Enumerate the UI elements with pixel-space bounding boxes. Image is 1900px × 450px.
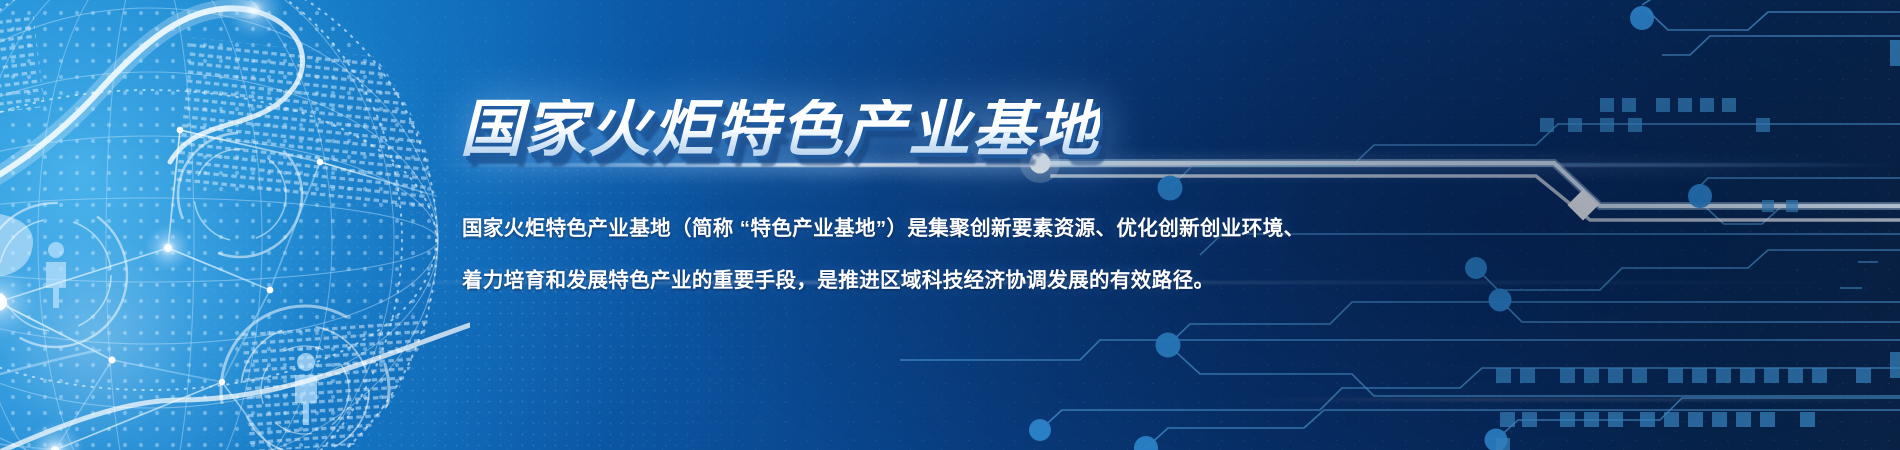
description-line-2: 着力培育和发展特色产业的重要手段，是推进区域科技经济协调发展的有效路径。: [462, 271, 1214, 292]
globe-network-graphic: [0, 0, 470, 450]
hero-banner: 国家火炬特色产业基地 国家火炬特色产业基地（简称 “特色产业基地”）是集聚创新要…: [0, 0, 1900, 450]
page-title: 国家火炬特色产业基地: [460, 99, 1100, 161]
banner-text-block: 国家火炬特色产业基地 国家火炬特色产业基地（简称 “特色产业基地”）是集聚创新要…: [460, 0, 1860, 450]
description-line-1: 国家火炬特色产业基地（简称 “特色产业基地”）是集聚创新要素资源、优化创新创业环…: [462, 219, 1305, 240]
